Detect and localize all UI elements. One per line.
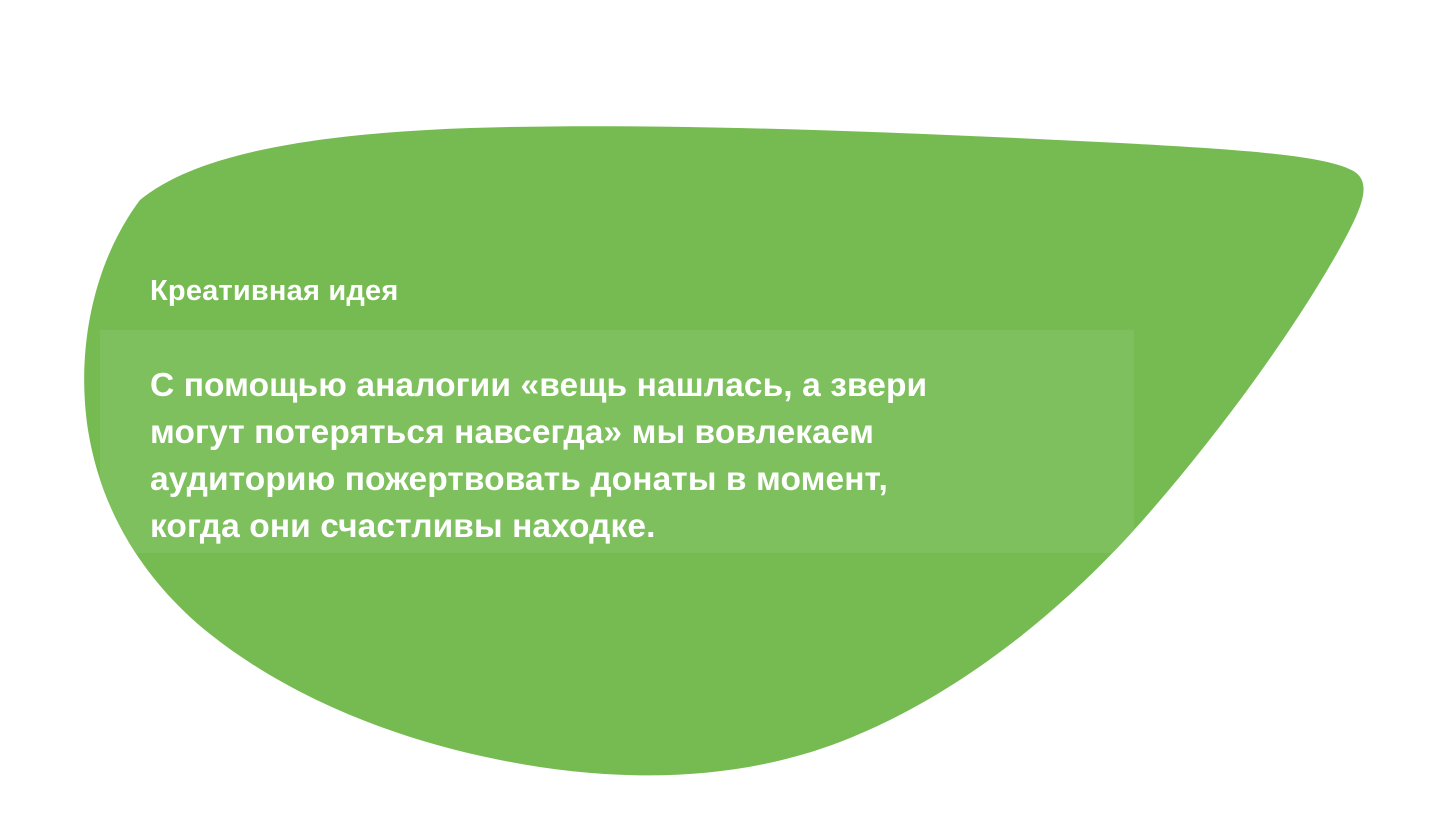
body-line-2: могут потеряться навсегда» мы вовлекаем: [150, 409, 1080, 456]
body-line-4: когда они счастливы находке.: [150, 503, 1080, 550]
slide-body-text: С помощью аналогии «вещь нашлась, а звер…: [150, 310, 1080, 550]
slide-heading: Креативная идея: [150, 272, 1110, 310]
body-line-1: С помощью аналогии «вещь нашлась, а звер…: [150, 362, 1080, 409]
slide-canvas: Креативная идея С помощью аналогии «вещь…: [0, 0, 1440, 824]
text-block: Креативная идея С помощью аналогии «вещь…: [150, 272, 1110, 550]
body-line-3: аудиторию пожертвовать донаты в момент,: [150, 456, 1080, 503]
